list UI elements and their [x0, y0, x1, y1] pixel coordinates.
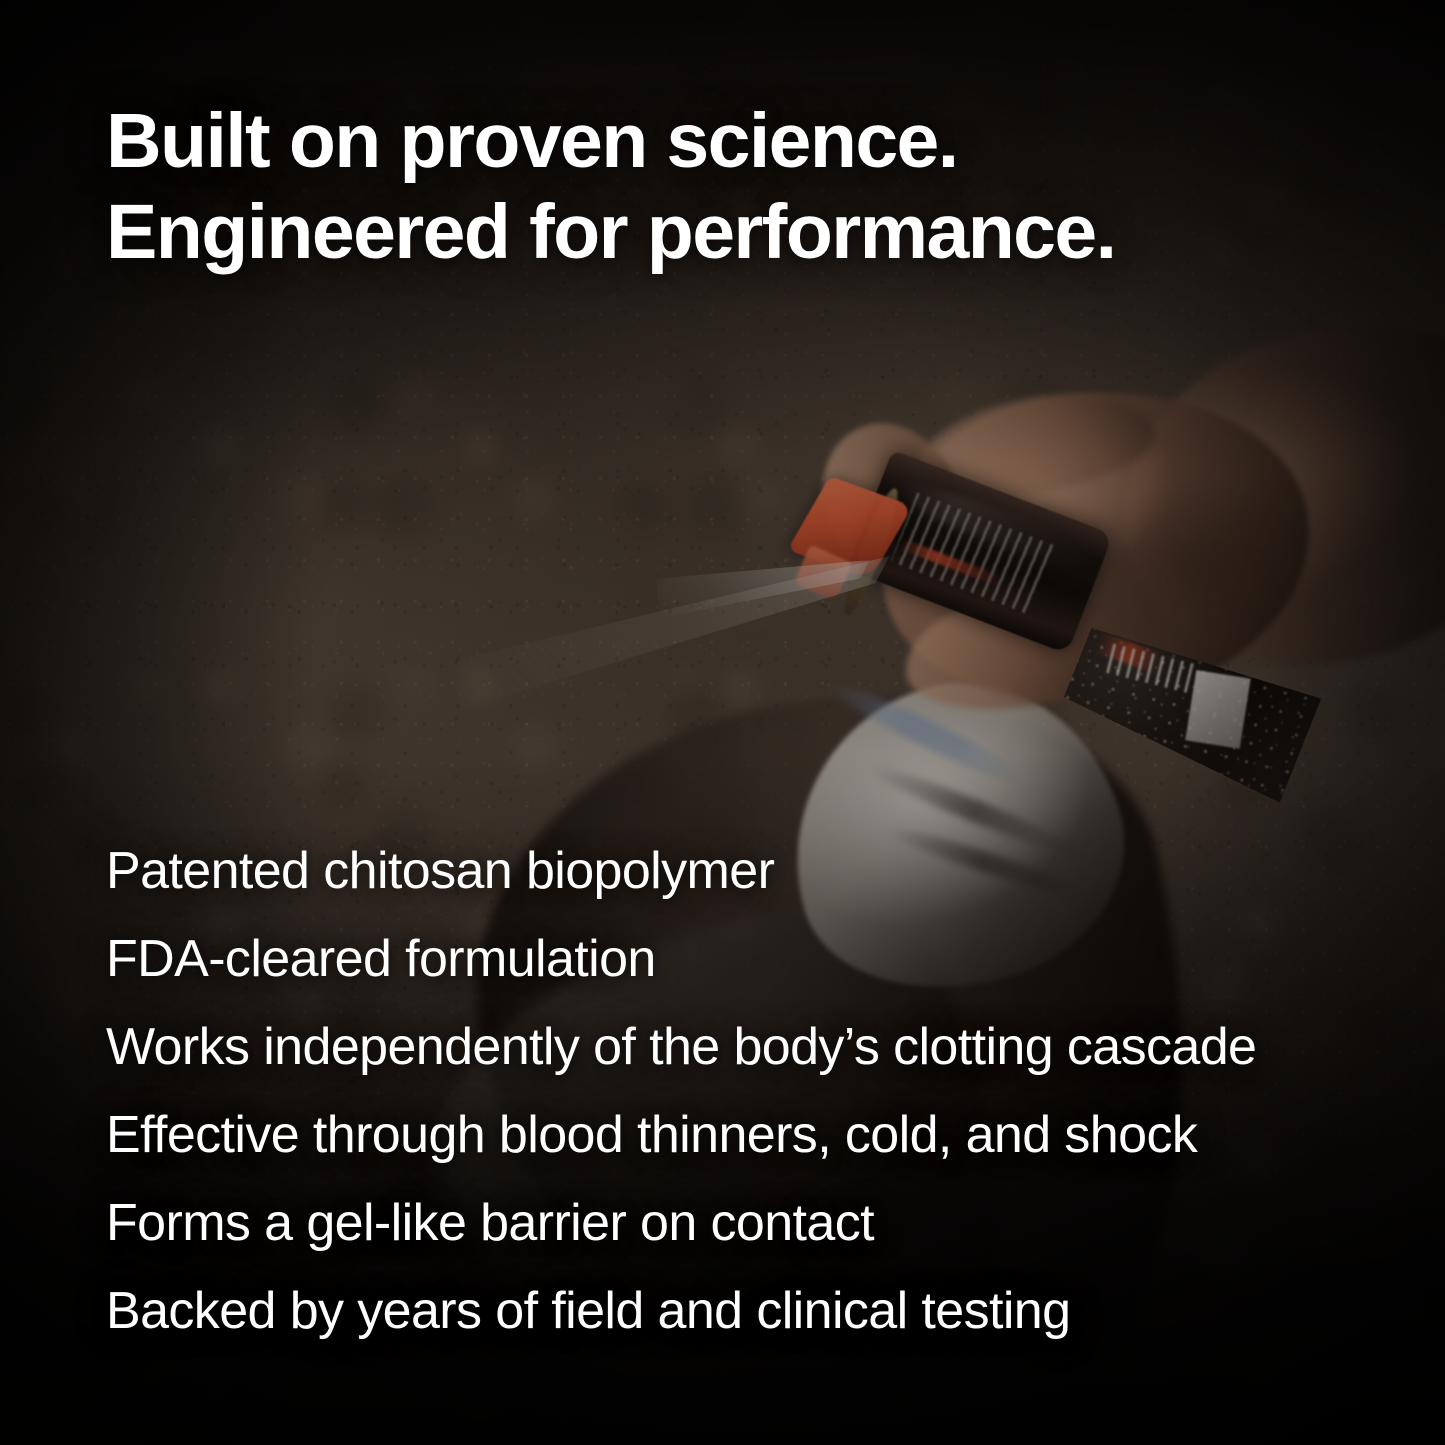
feature-item-3: Works independently of the body’s clotti…	[106, 1019, 1366, 1107]
feature-label: Backed by years of field and clinical te…	[106, 1283, 1070, 1339]
feature-item-4: Effective through blood thinners, cold, …	[106, 1107, 1366, 1195]
feature-item-6: Backed by years of field and clinical te…	[106, 1283, 1366, 1371]
feature-list: Patented chitosan biopolymer FDA-cleared…	[106, 843, 1366, 1371]
feature-item-5: Forms a gel-like barrier on contact	[106, 1195, 1366, 1283]
page-headline: Built on proven science. Engineered for …	[106, 96, 1356, 278]
feature-item-2: FDA-cleared formulation	[106, 931, 1366, 1019]
feature-label: FDA-cleared formulation	[106, 931, 656, 987]
promo-canvas: Built on proven science. Engineered for …	[0, 0, 1445, 1445]
feature-label: Patented chitosan biopolymer	[106, 843, 774, 899]
feature-item-1: Patented chitosan biopolymer	[106, 843, 1366, 931]
feature-label: Forms a gel-like barrier on contact	[106, 1195, 874, 1251]
feature-label: Works independently of the body’s clotti…	[106, 1019, 1256, 1075]
content-layer: Built on proven science. Engineered for …	[0, 0, 1445, 1445]
feature-label: Effective through blood thinners, cold, …	[106, 1107, 1197, 1163]
